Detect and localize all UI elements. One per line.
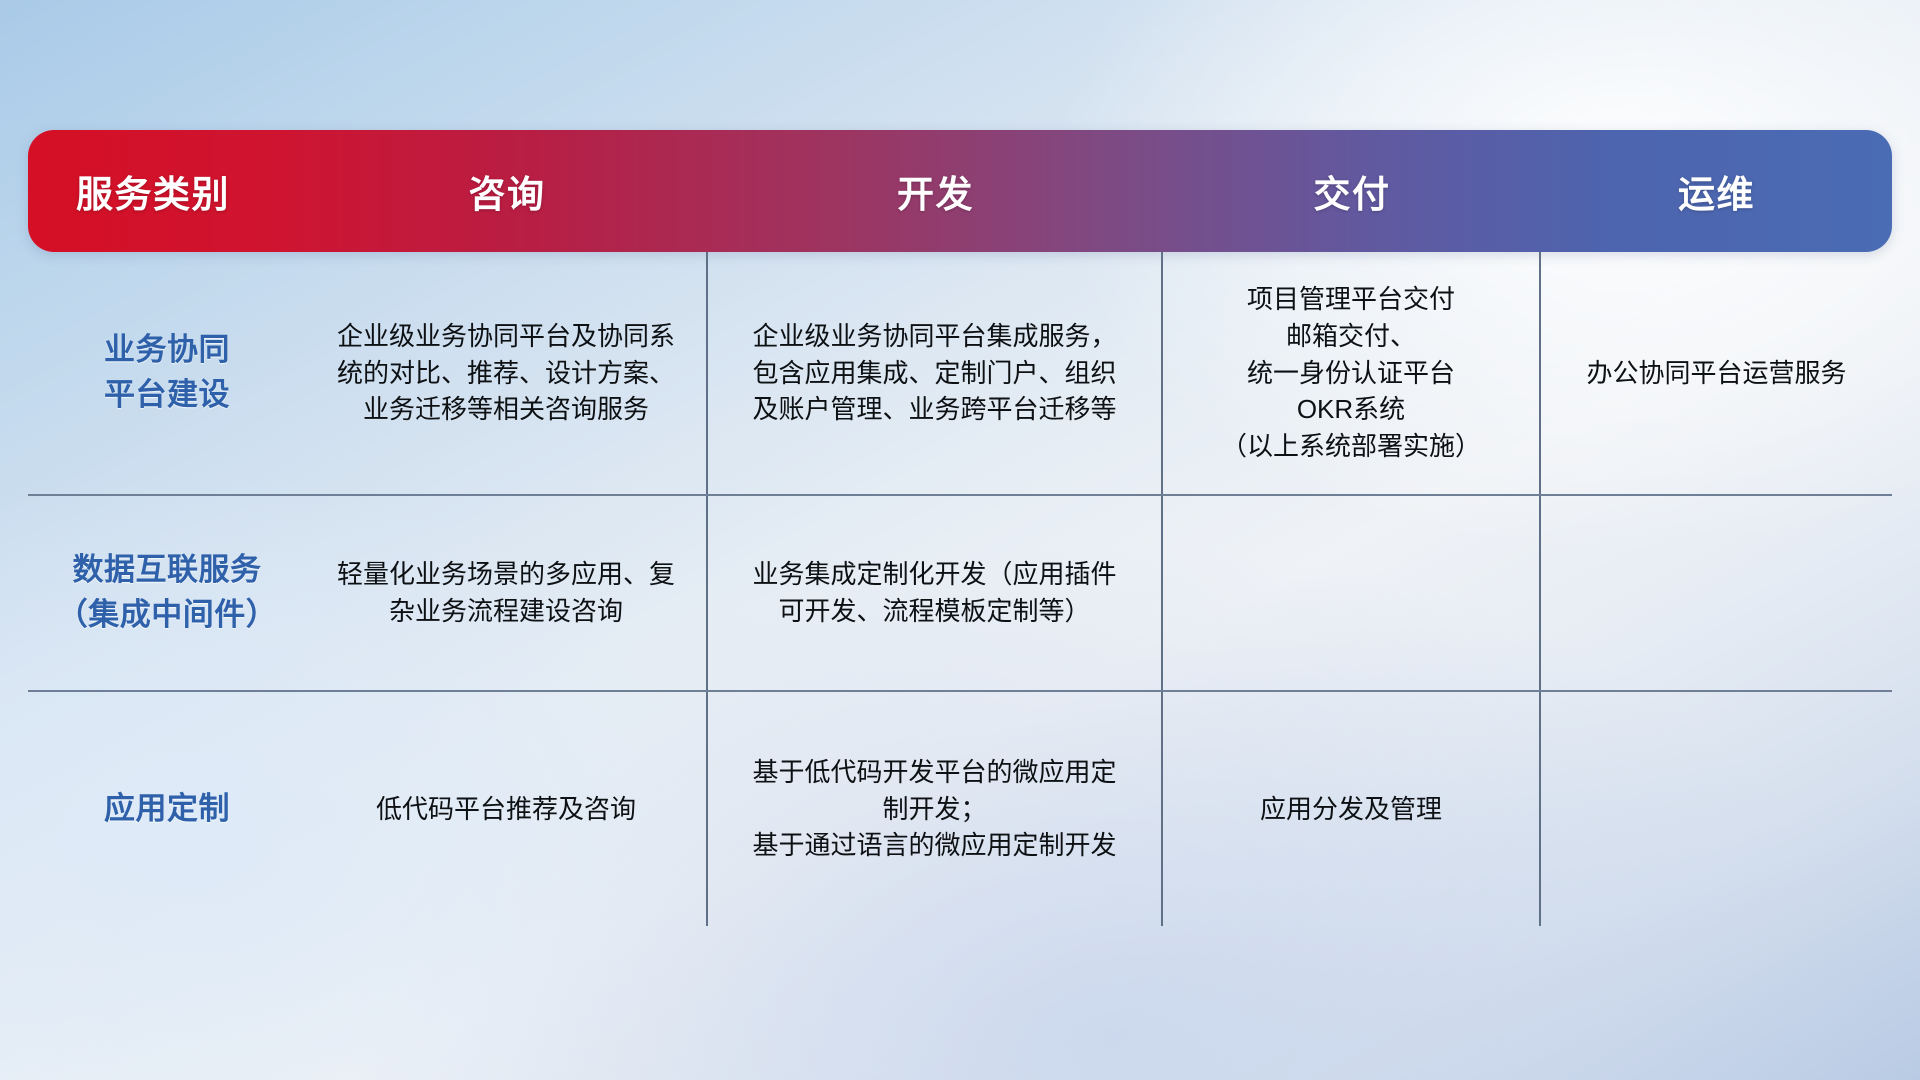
cell-delivery-row-1 [1163, 496, 1541, 690]
cell-operations-row-2 [1541, 692, 1892, 926]
table-row: 业务协同 平台建设 企业级业务协同平台及协同系 统的对比、推荐、设计方案、 业务… [28, 252, 1892, 496]
column-header-consulting: 咨询 [306, 130, 708, 252]
column-header-category: 服务类别 [28, 130, 306, 252]
table-row: 应用定制 低代码平台推荐及咨询 基于低代码开发平台的微应用定 制开发； 基于通过… [28, 692, 1892, 926]
cell-delivery-row-2: 应用分发及管理 [1163, 692, 1541, 926]
row-label-business-collaboration: 业务协同 平台建设 [28, 252, 306, 494]
column-header-operations: 运维 [1541, 130, 1892, 252]
cell-delivery-row-0: 项目管理平台交付 邮箱交付、 统一身份认证平台 OKR系统 （以上系统部署实施） [1163, 252, 1541, 494]
table-header-row: 服务类别 咨询 开发 交付 运维 [28, 130, 1892, 252]
cell-consulting-row-2: 低代码平台推荐及咨询 [306, 692, 708, 926]
slide-canvas: 服务类别 咨询 开发 交付 运维 业务协同 平台建设 企业级业务协同平台及协同系… [0, 0, 1920, 1080]
cell-operations-row-1 [1541, 496, 1892, 690]
column-header-delivery: 交付 [1163, 130, 1541, 252]
cell-development-row-1: 业务集成定制化开发（应用插件 可开发、流程模板定制等） [708, 496, 1163, 690]
row-label-app-customization: 应用定制 [28, 692, 306, 926]
cell-operations-row-0: 办公协同平台运营服务 [1541, 252, 1892, 494]
cell-consulting-row-0: 企业级业务协同平台及协同系 统的对比、推荐、设计方案、 业务迁移等相关咨询服务 [306, 252, 708, 494]
row-label-data-interconnect: 数据互联服务 （集成中间件） [28, 496, 306, 690]
service-category-table: 服务类别 咨询 开发 交付 运维 业务协同 平台建设 企业级业务协同平台及协同系… [28, 130, 1892, 926]
cell-development-row-2: 基于低代码开发平台的微应用定 制开发； 基于通过语言的微应用定制开发 [708, 692, 1163, 926]
cell-consulting-row-1: 轻量化业务场景的多应用、复 杂业务流程建设咨询 [306, 496, 708, 690]
table-row: 数据互联服务 （集成中间件） 轻量化业务场景的多应用、复 杂业务流程建设咨询 业… [28, 496, 1892, 692]
table-body: 业务协同 平台建设 企业级业务协同平台及协同系 统的对比、推荐、设计方案、 业务… [28, 252, 1892, 926]
column-header-development: 开发 [708, 130, 1163, 252]
cell-development-row-0: 企业级业务协同平台集成服务， 包含应用集成、定制门户、组织 及账户管理、业务跨平… [708, 252, 1163, 494]
